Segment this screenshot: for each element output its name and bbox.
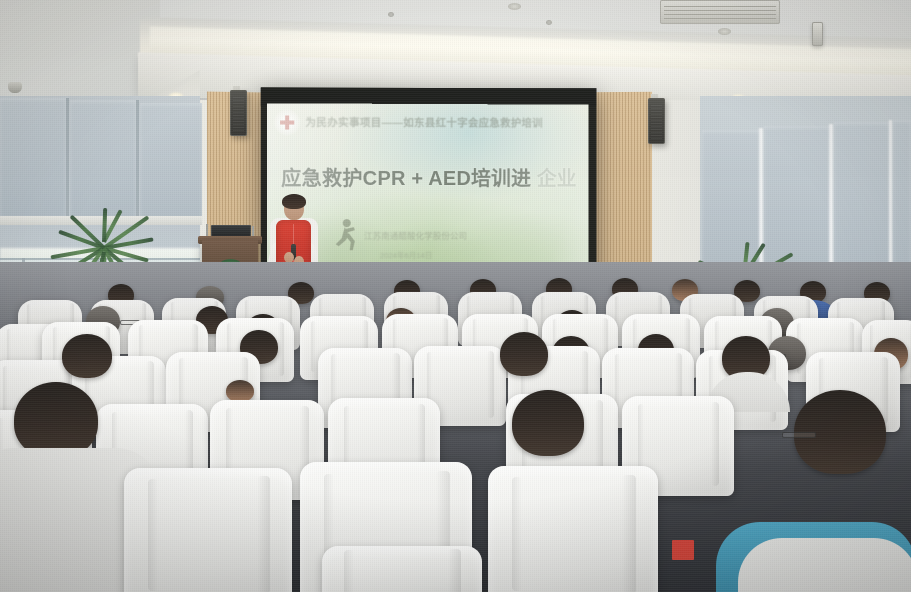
wall-speaker-left: [230, 90, 247, 136]
attendee-head: [14, 382, 98, 458]
attendee-head: [62, 334, 112, 378]
chair: [322, 546, 482, 592]
sprinkler-icon: [546, 20, 552, 25]
attendee-shoulders: [738, 538, 911, 592]
sprinkler-icon: [388, 12, 394, 17]
presenter-hair: [282, 194, 306, 209]
roller-blind-right-3[interactable]: [834, 122, 890, 284]
smoke-detector-icon: [508, 3, 521, 10]
attendee-head: [226, 380, 254, 402]
slide-banner-line: 为民办实事项目——如东县红十字会应急救护培训: [305, 115, 582, 131]
projector-mount: [812, 22, 823, 46]
red-cross-emblem-icon: [274, 109, 300, 135]
slide-main-title: 应急救护CPR + AED培训进 企业: [281, 162, 583, 191]
smoke-detector-icon: [718, 28, 731, 35]
slide-title-faint: 企业: [537, 168, 577, 190]
attendee-head: [500, 332, 548, 376]
security-camera-icon: [8, 82, 22, 93]
audience-area: [0, 262, 911, 592]
lanyard: [672, 540, 694, 560]
slide-organization: 江苏南通醋酸化学股份公司: [364, 230, 583, 242]
chair: [488, 466, 658, 592]
attendee-head: [512, 390, 584, 456]
wall-speaker-right: [648, 98, 665, 144]
slide-title-main: 应急救护CPR + AED培训进: [281, 168, 531, 190]
eyeglasses-icon: [782, 432, 816, 438]
runner-figure-icon: [332, 218, 358, 252]
conference-room-photo: 为民办实事项目——如东县红十字会应急救护培训 应急救护CPR + AED培训进 …: [0, 0, 911, 592]
ceiling-ac-unit: [660, 0, 780, 24]
slide-date: 2024年6月14日: [380, 250, 583, 262]
chair: [124, 468, 292, 592]
